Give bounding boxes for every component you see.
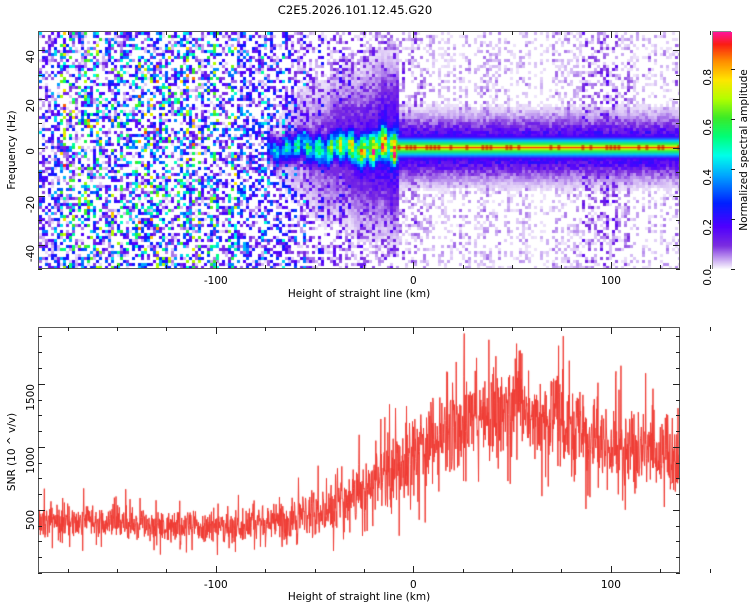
x-tick-minor	[463, 569, 464, 573]
snr-x-axis-label: Height of straight line (km)	[288, 591, 430, 603]
y-tick-minor-right	[676, 220, 680, 221]
x-tick-minor	[660, 569, 661, 573]
y-tick-label: -40	[25, 245, 37, 262]
y-tick-minor-right	[676, 478, 680, 479]
y-tick-minor-right	[676, 75, 680, 76]
x-tick-major	[216, 262, 217, 269]
y-tick-minor-right	[676, 352, 680, 353]
x-tick-minor-top	[166, 327, 167, 331]
colorbar-tick	[731, 219, 735, 220]
y-tick-minor	[38, 541, 42, 542]
x-tick-minor	[315, 265, 316, 269]
x-tick-minor	[561, 569, 562, 573]
snr-trace-canvas	[39, 328, 679, 572]
x-tick-minor-top	[364, 31, 365, 35]
x-tick-minor	[166, 265, 167, 269]
x-tick-major-top	[413, 31, 414, 38]
y-tick-minor-right	[676, 573, 680, 574]
y-tick-major-right	[673, 50, 680, 51]
y-tick-minor	[38, 526, 42, 527]
x-tick-minor	[463, 265, 464, 269]
x-tick-label: -100	[204, 275, 228, 287]
x-tick-minor	[68, 569, 69, 573]
x-tick-minor-top	[117, 327, 118, 331]
figure-root: C2E5.2026.101.12.45.G20 -1000100-40-2002…	[0, 0, 750, 600]
x-tick-minor	[611, 569, 612, 573]
x-tick-minor	[512, 569, 513, 573]
x-tick-minor	[117, 569, 118, 573]
y-tick-major	[38, 384, 45, 385]
colorbar-tick-label: 0.2	[702, 219, 714, 236]
x-tick-minor-top	[611, 31, 612, 35]
colorbar-tick-label: 0.8	[702, 69, 714, 86]
x-tick-major-top	[216, 31, 217, 38]
x-tick-minor-top	[512, 327, 513, 331]
y-tick-minor	[38, 478, 42, 479]
y-tick-major	[38, 245, 45, 246]
y-tick-minor-right	[676, 368, 680, 369]
x-tick-minor-top	[660, 31, 661, 35]
y-tick-major-right	[673, 447, 680, 448]
y-tick-major	[38, 148, 45, 149]
x-tick-minor-top	[315, 327, 316, 331]
x-tick-label: -100	[204, 579, 228, 591]
y-tick-label: 500	[25, 510, 37, 530]
x-tick-minor	[611, 265, 612, 269]
x-tick-minor	[166, 569, 167, 573]
y-tick-minor	[38, 172, 42, 173]
snr-panel	[38, 327, 680, 573]
snr-y-axis-label: SNR (10 ^ v/v)	[6, 413, 18, 491]
y-tick-major	[38, 99, 45, 100]
x-tick-minor-top	[463, 31, 464, 35]
y-tick-label: 0	[25, 148, 37, 155]
y-tick-major-right	[673, 384, 680, 385]
y-tick-minor	[38, 494, 42, 495]
y-tick-minor	[38, 431, 42, 432]
y-tick-major-right	[673, 245, 680, 246]
x-tick-major	[413, 262, 414, 269]
y-tick-label: 40	[25, 50, 37, 63]
x-tick-minor-top	[710, 31, 711, 35]
x-tick-minor-top	[660, 327, 661, 331]
x-tick-minor	[265, 569, 266, 573]
y-tick-minor-right	[676, 172, 680, 173]
colorbar-tick	[731, 119, 735, 120]
x-tick-minor	[315, 569, 316, 573]
y-tick-major-right	[673, 510, 680, 511]
y-tick-major-right	[673, 148, 680, 149]
x-tick-label: 100	[601, 579, 621, 591]
x-tick-major-top	[216, 327, 217, 334]
x-tick-minor-top	[315, 31, 316, 35]
y-tick-major-right	[673, 196, 680, 197]
colorbar-tick	[731, 269, 735, 270]
y-tick-minor	[38, 75, 42, 76]
colorbar-tick-label: 0.0	[702, 269, 714, 286]
y-tick-major	[38, 50, 45, 51]
y-tick-minor	[38, 269, 42, 270]
spectrogram-x-axis-label: Height of straight line (km)	[288, 288, 430, 300]
x-tick-minor	[68, 265, 69, 269]
y-tick-minor-right	[676, 431, 680, 432]
colorbar-tick-label: 0.6	[702, 119, 714, 136]
x-tick-minor-top	[561, 31, 562, 35]
colorbar	[712, 31, 731, 269]
x-tick-label: 0	[410, 275, 417, 287]
colorbar-tick	[731, 69, 735, 70]
y-tick-minor	[38, 336, 42, 337]
y-tick-minor	[38, 368, 42, 369]
colorbar-tick-label: 0.4	[702, 169, 714, 186]
x-tick-minor-top	[68, 31, 69, 35]
y-tick-minor	[38, 463, 42, 464]
y-tick-minor	[38, 557, 42, 558]
x-tick-major-top	[413, 327, 414, 334]
y-tick-minor-right	[676, 557, 680, 558]
spectrogram-canvas	[39, 32, 679, 268]
x-tick-minor	[364, 569, 365, 573]
y-tick-minor-right	[676, 123, 680, 124]
y-tick-minor-right	[676, 526, 680, 527]
x-tick-minor-top	[166, 31, 167, 35]
x-tick-minor-top	[710, 327, 711, 331]
y-tick-label: 1500	[25, 384, 37, 411]
x-tick-label: 100	[601, 275, 621, 287]
x-tick-minor	[512, 265, 513, 269]
y-tick-label: 1000	[25, 447, 37, 474]
y-tick-major	[38, 447, 45, 448]
x-tick-minor-top	[68, 327, 69, 331]
y-tick-minor-right	[676, 463, 680, 464]
x-tick-major	[216, 566, 217, 573]
y-tick-minor-right	[676, 541, 680, 542]
x-tick-minor-top	[117, 31, 118, 35]
colorbar-gradient-canvas	[713, 32, 732, 270]
x-tick-minor	[561, 265, 562, 269]
y-tick-minor	[38, 123, 42, 124]
x-tick-minor-top	[611, 327, 612, 331]
x-tick-minor-top	[512, 31, 513, 35]
y-tick-minor-right	[676, 336, 680, 337]
y-tick-label: -20	[25, 196, 37, 213]
colorbar-tick	[731, 169, 735, 170]
y-tick-major-right	[673, 99, 680, 100]
y-tick-minor-right	[676, 400, 680, 401]
y-tick-minor-right	[676, 415, 680, 416]
y-tick-minor-right	[676, 269, 680, 270]
y-tick-label: 20	[25, 99, 37, 112]
x-tick-minor-top	[265, 327, 266, 331]
x-tick-minor-top	[561, 327, 562, 331]
y-tick-major	[38, 510, 45, 511]
x-tick-minor-top	[463, 327, 464, 331]
x-tick-minor-top	[364, 327, 365, 331]
x-tick-minor	[660, 265, 661, 269]
y-tick-minor	[38, 573, 42, 574]
y-tick-minor	[38, 352, 42, 353]
colorbar-label: Normalized spectral amplitude	[738, 69, 750, 230]
y-tick-minor-right	[676, 494, 680, 495]
spectrogram-panel	[38, 31, 680, 269]
x-tick-minor	[364, 265, 365, 269]
x-tick-minor	[117, 265, 118, 269]
y-tick-minor	[38, 415, 42, 416]
x-tick-label: 0	[410, 579, 417, 591]
x-tick-minor	[710, 569, 711, 573]
y-tick-minor	[38, 400, 42, 401]
page-title: C2E5.2026.101.12.45.G20	[0, 3, 710, 17]
y-tick-minor	[38, 220, 42, 221]
x-tick-major	[413, 566, 414, 573]
x-tick-minor	[265, 265, 266, 269]
spectrogram-y-axis-label: Frequency (Hz)	[6, 110, 18, 189]
x-tick-minor-top	[265, 31, 266, 35]
y-tick-major	[38, 196, 45, 197]
